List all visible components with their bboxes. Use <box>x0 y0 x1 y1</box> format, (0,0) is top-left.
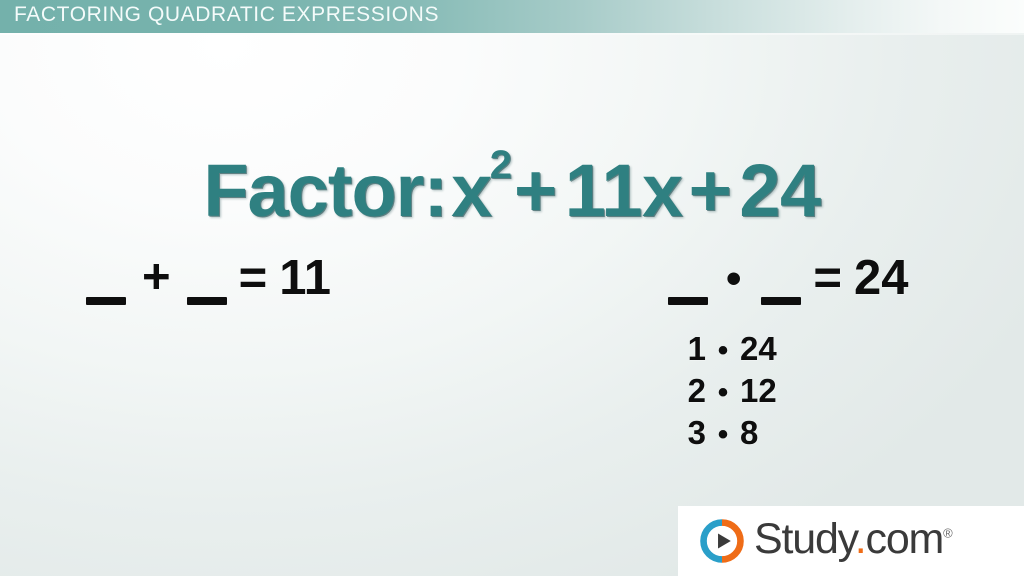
product-blank-2 <box>761 297 801 305</box>
slide-canvas: FACTORING QUADRATIC EXPRESSIONS Factor:x… <box>0 0 1024 576</box>
title-equation: Factor:x2+11x+24 <box>0 148 1024 233</box>
logo-word-com: com <box>866 515 944 563</box>
title-lead-label: Factor: <box>203 149 447 232</box>
factor-pairs-list: 1 • 24 2 • 12 3 • 8 <box>680 330 777 456</box>
logo-dot: . <box>855 515 866 563</box>
factor-pair-b: 12 <box>740 372 777 410</box>
factor-pair-b: 24 <box>740 330 777 368</box>
factor-pair-dot-icon: • <box>706 334 740 368</box>
sum-blank-1 <box>86 297 126 305</box>
registered-mark-icon: ® <box>943 525 953 540</box>
product-result: 24 <box>854 250 909 306</box>
title-variable: x <box>451 149 492 232</box>
product-equation: •=24 <box>668 263 909 319</box>
header-divider <box>0 33 1024 35</box>
play-circle-icon <box>700 519 744 563</box>
header-title: FACTORING QUADRATIC EXPRESSIONS <box>14 3 439 27</box>
factor-pair-dot-icon: • <box>706 376 740 410</box>
sum-result: 11 <box>279 250 331 306</box>
factor-pair-a: 2 <box>680 372 706 410</box>
title-exponent: 2 <box>490 143 512 187</box>
sum-equation: +=11 <box>86 263 331 319</box>
factor-pair-row: 2 • 12 <box>680 372 777 414</box>
factor-pair-row: 1 • 24 <box>680 330 777 372</box>
factor-pair-dot-icon: • <box>706 418 740 452</box>
study-logo-panel[interactable]: Study.com® <box>678 506 1024 576</box>
factor-pair-a: 3 <box>680 414 706 452</box>
product-operator: • <box>726 254 741 304</box>
factor-pair-row: 3 • 8 <box>680 414 777 456</box>
title-operator-2: + <box>689 149 732 232</box>
sum-equals-sign: = <box>239 250 268 306</box>
title-term-2: 24 <box>739 149 820 232</box>
title-operator-1: + <box>514 149 557 232</box>
title-term-1: 11x <box>565 149 683 232</box>
factor-pair-b: 8 <box>740 414 758 452</box>
header-bar: FACTORING QUADRATIC EXPRESSIONS <box>0 0 1024 33</box>
logo-word-study: Study <box>754 515 855 563</box>
product-blank-1 <box>668 297 708 305</box>
sum-blank-2 <box>187 297 227 305</box>
study-logo-wordmark: Study.com® <box>754 518 953 561</box>
sum-operator: + <box>142 249 171 305</box>
product-equals-sign: = <box>813 250 842 306</box>
factor-pair-a: 1 <box>680 330 706 368</box>
